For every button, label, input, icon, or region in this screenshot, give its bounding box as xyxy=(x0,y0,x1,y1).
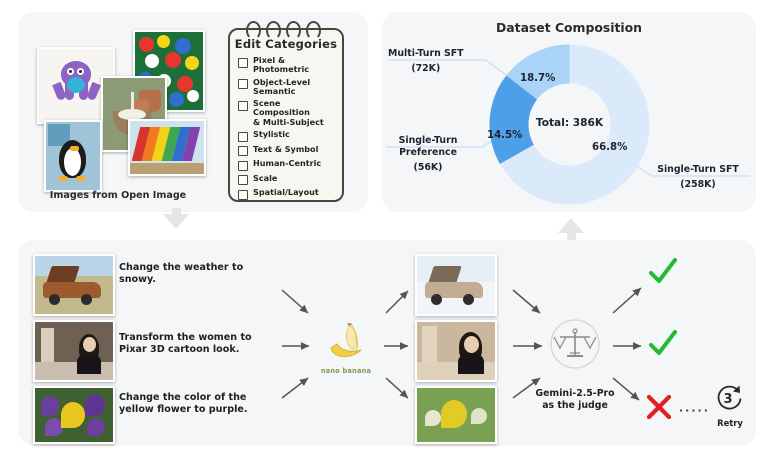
prompt-text-2: Transform the women to Pixar 3D cartoon … xyxy=(119,332,279,357)
slice-percent-multi-turn-sft: 18.7% xyxy=(520,73,555,84)
checkbox-icon[interactable] xyxy=(238,79,248,89)
edit-category-row[interactable]: Object-Level Semantic xyxy=(238,78,337,97)
notepad-title: Edit Categories xyxy=(230,37,342,51)
callout-name: Multi-Turn SFT xyxy=(388,48,464,59)
sources-caption: Images from Open Image xyxy=(18,190,218,201)
retry-dots: ····· xyxy=(679,404,710,417)
checkbox-icon[interactable] xyxy=(238,161,248,171)
retry-circular-arrow-icon: 3 xyxy=(715,383,745,413)
judge-node xyxy=(549,318,601,370)
slice-percent-single-turn-sft: 66.8% xyxy=(592,142,627,153)
nano-banana-node: nano banana xyxy=(315,322,377,378)
source-image-woman xyxy=(33,320,115,382)
callout-multi-turn-sft: Multi-Turn SFT (72K) xyxy=(388,48,464,74)
connector-arrow-down-icon xyxy=(163,214,189,229)
nano-banana-label: nano banana xyxy=(315,367,377,375)
edit-category-label: Pixel & Photometric xyxy=(253,56,337,75)
edit-categories-list: Pixel & PhotometricObject-Level Semantic… xyxy=(238,56,337,203)
thumbnail-rainbow-balloon xyxy=(128,119,206,176)
checkbox-icon[interactable] xyxy=(238,58,248,68)
edit-category-row[interactable]: Stylistic xyxy=(238,130,337,142)
callout-count: (72K) xyxy=(388,60,464,75)
chart-title: Dataset Composition xyxy=(382,20,756,35)
edit-category-label: Object-Level Semantic xyxy=(253,78,337,97)
callout-name-line1: Single-Turn xyxy=(399,135,458,146)
edit-category-row[interactable]: Scene Composition& Multi-Subject xyxy=(238,99,337,127)
edit-category-row[interactable]: Scale xyxy=(238,174,337,186)
edited-image-car-snowy xyxy=(415,254,497,316)
edited-image-flower-attempt xyxy=(415,386,497,444)
retry-node: 3 Retry xyxy=(710,383,750,428)
check-icon xyxy=(648,330,678,358)
donut-center-total: Total: 386K xyxy=(502,117,637,129)
verdict-cross xyxy=(645,394,673,420)
banana-icon xyxy=(323,322,369,362)
edited-image-woman-pixar xyxy=(415,320,497,382)
callout-name-line2: Preference xyxy=(399,147,457,158)
judge-caption-line2: as the judge xyxy=(542,400,608,411)
callout-count: (258K) xyxy=(640,176,756,191)
edit-category-row[interactable]: Human-Centric xyxy=(238,159,337,171)
svg-text:3: 3 xyxy=(723,392,732,407)
edit-category-row[interactable]: Text & Symbol xyxy=(238,145,337,157)
edit-category-label: Scene Composition& Multi-Subject xyxy=(253,99,337,127)
source-image-flowers xyxy=(33,386,115,444)
slice-percent-single-turn-preference: 14.5% xyxy=(487,130,522,141)
edit-categories-notepad: Edit Categories Pixel & PhotometricObjec… xyxy=(228,28,344,202)
cross-icon xyxy=(645,394,673,420)
edit-category-row[interactable]: Pixel & Photometric xyxy=(238,56,337,75)
edit-category-label: Spatial/Layout xyxy=(253,188,319,197)
prompt-text-1: Change the weather to snowy. xyxy=(119,262,279,287)
checkbox-icon[interactable] xyxy=(238,175,248,185)
verdict-check-2 xyxy=(648,330,678,358)
callout-single-turn-sft: Single-Turn SFT (258K) xyxy=(640,164,756,190)
checkbox-icon[interactable] xyxy=(238,101,248,111)
edit-category-label: Human-Centric xyxy=(253,159,321,168)
judge-caption-line1: Gemini-2.5-Pro xyxy=(535,388,614,399)
judge-caption: Gemini-2.5-Pro as the judge xyxy=(505,388,645,411)
prompt-text-3: Change the color of the yellow flower to… xyxy=(119,392,279,417)
edit-category-label: Text & Symbol xyxy=(253,145,318,154)
callout-single-turn-preference: Single-Turn Preference (56K) xyxy=(386,135,470,174)
checkbox-icon[interactable] xyxy=(238,132,248,142)
callout-count: (56K) xyxy=(386,158,470,174)
checkbox-icon[interactable] xyxy=(238,190,248,200)
edit-category-label: Stylistic xyxy=(253,130,290,139)
edit-category-row[interactable]: Spatial/Layout xyxy=(238,188,337,200)
callout-name: Single-Turn SFT xyxy=(657,164,739,175)
source-image-car xyxy=(33,254,115,316)
edit-category-label: Scale xyxy=(253,174,277,183)
check-icon xyxy=(648,258,678,286)
checkbox-icon[interactable] xyxy=(238,146,248,156)
verdict-check-1 xyxy=(648,258,678,286)
retry-label: Retry xyxy=(710,418,750,428)
figure-canvas: Images from Open Image Edit Categories P… xyxy=(0,0,768,458)
thumbnail-penguin-cartoon xyxy=(44,120,102,192)
balance-scale-icon xyxy=(549,318,601,370)
connector-arrow-up-icon xyxy=(558,218,584,233)
